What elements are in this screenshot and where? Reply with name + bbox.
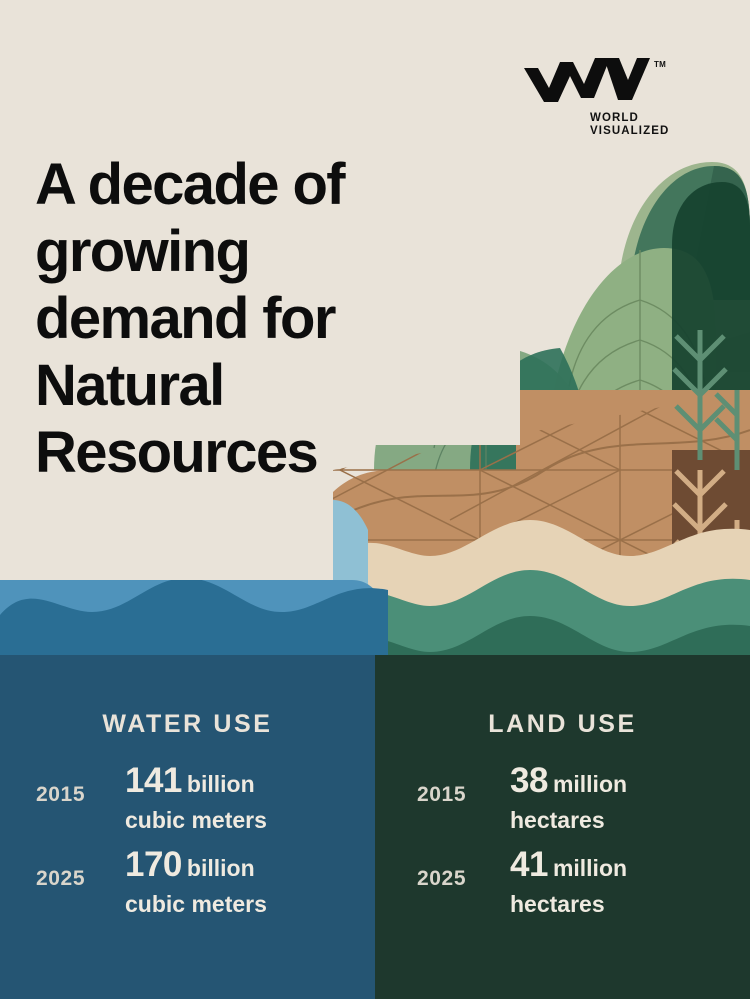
water-stat-2025: 2025 170billion cubic meters [0, 847, 375, 933]
water-stat-2025-number: 170 [125, 845, 182, 884]
land-stat-2015-year: 2015 [417, 783, 466, 807]
land-stat-2025-number: 41 [510, 845, 548, 884]
water-stat-2025-year: 2025 [36, 867, 85, 891]
water-stat-2025-unit: billion [187, 855, 255, 881]
land-stat-2015-unit: million [553, 771, 627, 797]
water-use-panel: WATER USE 2015 141billion cubic meters 2… [0, 655, 375, 999]
land-stat-2015-unit2: hectares [510, 807, 605, 833]
water-use-heading: WATER USE [0, 710, 375, 739]
water-stat-2015-unit: billion [187, 771, 255, 797]
water-stat-2015-year: 2015 [36, 783, 85, 807]
statistics-section: WATER USE 2015 141billion cubic meters 2… [0, 655, 750, 999]
title-line-5: Resources [35, 419, 435, 486]
brand-line-2: VISUALIZED [590, 125, 669, 138]
land-stat-2015: 2015 38million hectares [375, 763, 750, 849]
wv-monogram-icon [524, 58, 650, 106]
water-stat-2015-value: 141billion cubic meters [125, 763, 267, 839]
title-line-4: Natural [35, 352, 435, 419]
water-stat-2015-unit2: cubic meters [125, 807, 267, 833]
land-stat-2025-unit: million [553, 855, 627, 881]
land-stat-2025: 2025 41million hectares [375, 847, 750, 933]
brand-line-1: WORLD [590, 112, 669, 125]
brand-logo: TM WORLD VISUALIZED [518, 58, 674, 142]
land-stat-2025-year: 2025 [417, 867, 466, 891]
trademark-symbol: TM [654, 60, 666, 69]
land-use-heading: LAND USE [375, 710, 750, 739]
water-stat-2015: 2015 141billion cubic meters [0, 763, 375, 849]
land-stat-2025-unit2: hectares [510, 891, 605, 917]
title-line-1: A decade of [35, 151, 435, 218]
land-stat-2015-number: 38 [510, 761, 548, 800]
water-stat-2025-value: 170billion cubic meters [125, 847, 267, 923]
brand-wordmark: WORLD VISUALIZED [590, 112, 669, 138]
water-stat-2025-unit2: cubic meters [125, 891, 267, 917]
page-title: A decade of growing demand for Natural R… [35, 151, 435, 486]
land-stat-2025-value: 41million hectares [510, 847, 627, 923]
title-line-2: growing [35, 218, 435, 285]
land-use-panel: LAND USE 2015 38million hectares 2025 41… [375, 655, 750, 999]
infographic-poster: TM WORLD VISUALIZED A decade of growing … [0, 0, 750, 999]
land-stat-2015-value: 38million hectares [510, 763, 627, 839]
water-stat-2015-number: 141 [125, 761, 182, 800]
title-line-3: demand for [35, 285, 435, 352]
